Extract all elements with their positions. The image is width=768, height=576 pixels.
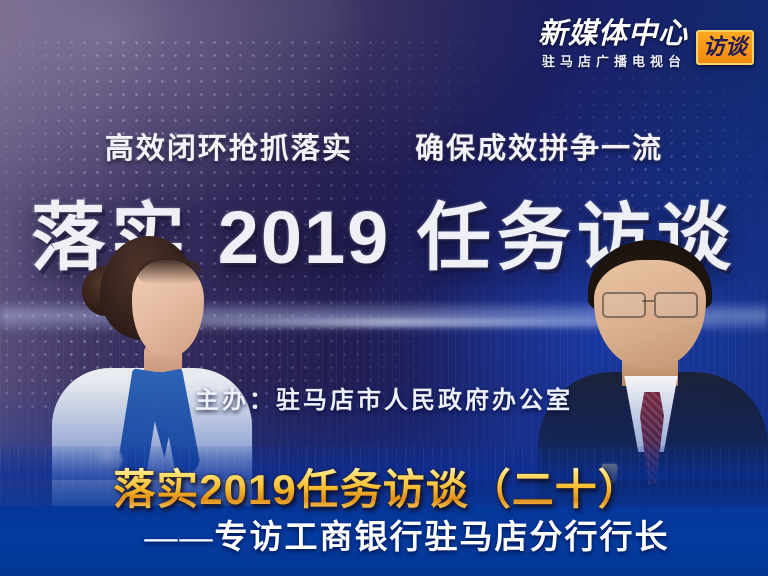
program-title: 落实2019任务访谈（二十）: [0, 466, 768, 514]
program-type-badge: 访谈: [696, 30, 754, 65]
channel-logo-station: 驻马店广播电视台: [542, 53, 688, 70]
host-hair-fringe: [138, 258, 202, 284]
guest-glasses-left-lens: [602, 292, 646, 318]
backdrop-organizer-line: 主办：驻马店市人民政府办公室: [0, 380, 768, 415]
channel-logo-texts: 新媒体中心 驻马店广播电视台: [538, 18, 688, 70]
guest-glasses-bridge: [642, 300, 654, 302]
guest-glasses-right-lens: [654, 292, 698, 318]
backdrop-slogan: 高效闭环抢抓落实 确保成效拼争一流: [0, 125, 768, 167]
backdrop-slogan-right: 确保成效拼争一流: [415, 133, 663, 165]
channel-logo-name: 新媒体中心: [538, 18, 688, 50]
backdrop-slogan-left: 高效闭环抢抓落实: [105, 133, 353, 165]
lower-third-banner: 落实2019任务访谈（二十） ——专访工商银行驻马店分行行长: [0, 446, 768, 576]
program-subtitle: ——专访工商银行驻马店分行行长: [0, 510, 768, 558]
video-frame: 高效闭环抢抓落实 确保成效拼争一流 落实 2019 任务访谈 主: [0, 0, 768, 576]
channel-logo: 新媒体中心 驻马店广播电视台 访谈: [538, 18, 754, 78]
